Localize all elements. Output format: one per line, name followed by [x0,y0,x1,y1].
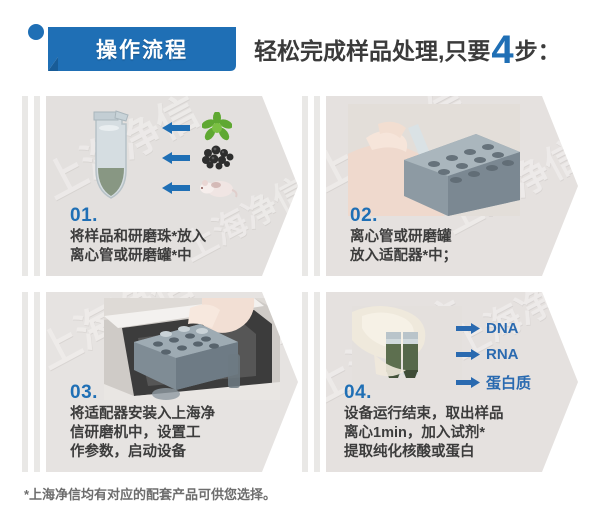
step-card-body: 上海净信 上海净信 [46,96,298,276]
step-card-body: 上海净信 上海净信 [326,96,578,276]
step-text: 03. 将适配器安装入上海净 信研磨机中，设置工 作参数，启动设备 [70,383,215,462]
beads-icon [200,144,236,170]
gloved-hand-tubes-photo [352,306,462,390]
step-text: 04. 设备运行结束，取出样品 离心1min，加入试剂* 提取纯化核酸或蛋白 [344,383,504,462]
step-line: 离心管或研磨罐*中 [70,247,206,266]
step-number: 02. [350,206,457,226]
headline-number: 4 [491,34,513,66]
headline: 轻松完成样品处理,只要 4 步： [254,30,561,66]
output-row-rna: RNA [456,346,519,363]
arrow-right-icon [456,323,480,334]
stripe-decoration [302,96,308,276]
headline-suffix: 步： [515,32,561,66]
step-line: 信研磨机中，设置工 [70,424,215,443]
step-line: 离心1min，加入试剂* [344,424,504,443]
page-header: 操作流程 轻松完成样品处理,只要 4 步： [0,0,600,88]
step-line: 放入适配器*中； [350,247,457,266]
tube-icon [88,108,134,204]
hand-adapter-photo [348,104,520,216]
output-row-dna: DNA [456,320,519,337]
output-label: RNA [486,346,519,363]
arrow-left-icon [162,152,190,164]
leaf-icon [202,112,232,142]
stripe-decoration [314,292,320,472]
stripe-decoration [34,96,40,276]
footnote: *上海净信均有对应的配套产品可供您选择。 [24,484,276,503]
output-label: DNA [486,320,519,337]
ribbon-dot-icon [28,24,44,40]
stripe-decoration [22,292,28,472]
stripe-decoration [314,96,320,276]
ribbon-title: 操作流程 [48,27,236,71]
step-line: 离心管或研磨罐 [350,228,457,247]
step-number: 01. [70,206,206,226]
step-text: 02. 离心管或研磨罐 放入适配器*中； [350,206,457,266]
mouse-icon [198,176,238,200]
stripe-decoration [302,292,308,472]
stripe-decoration [22,96,28,276]
step-line: 将适配器安装入上海净 [70,405,215,424]
arrow-left-icon [162,122,190,134]
step-card-body: 上海净信 上海净信 DNA [326,292,578,472]
step-line: 作参数，启动设备 [70,443,215,462]
step-line: 提取纯化核酸或蛋白 [344,443,504,462]
arrow-right-icon [456,349,480,360]
step-number: 04. [344,383,504,403]
step-card-body: 上海净信 上海净信 [46,292,298,472]
stripe-decoration [34,292,40,472]
headline-prefix: 轻松完成样品处理,只要 [254,32,490,66]
step-number: 03. [70,383,215,403]
step-line: 将样品和研磨珠*放入 [70,228,206,247]
step-line: 设备运行结束，取出样品 [344,405,504,424]
arrow-left-icon [162,182,190,194]
step-text: 01. 将样品和研磨珠*放入 离心管或研磨罐*中 [70,206,206,266]
